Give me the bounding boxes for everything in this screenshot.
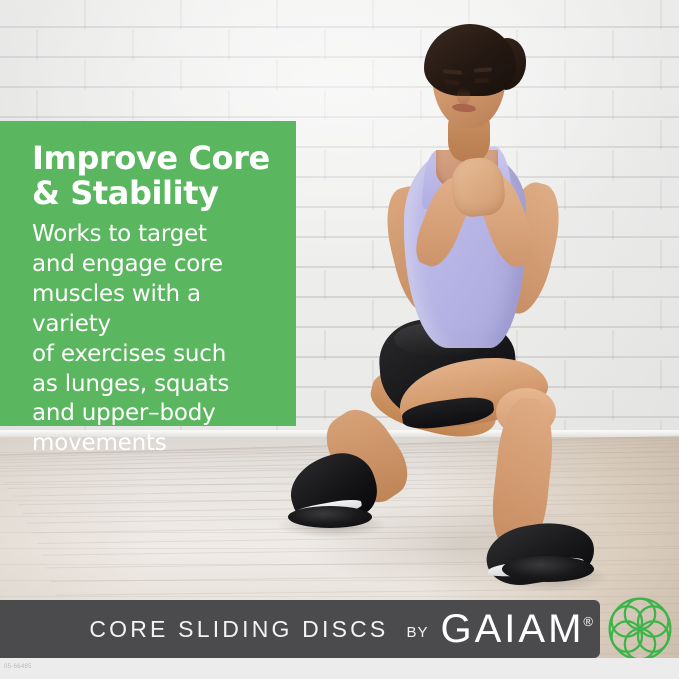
product-name-label: CORE SLIDING DISCS [89,616,388,643]
gaiam-flower-logo-icon [607,596,673,662]
by-label: BY [406,624,428,641]
sku-code: 05-66485 [4,664,32,670]
hair [424,24,516,96]
bottom-white-strip [0,658,679,679]
promo-panel: Improve Core & Stability Works to target… [0,121,296,426]
front-sliding-disc [502,556,594,582]
brand-banner: CORE SLIDING DISCS BY GAIAM® [0,598,679,660]
promo-heading-line-2: & Stability [32,174,219,212]
brand-wordmark: GAIAM® [441,607,595,652]
promo-body-text: Works to target and engage core muscles … [32,220,274,459]
registered-trademark-symbol: ® [583,614,593,629]
brand-name-text: GAIAM [441,607,585,651]
promo-heading: Improve Core & Stability [32,141,274,210]
nose [457,88,470,104]
eye-right [474,77,489,83]
rear-sliding-disc [288,506,372,528]
product-marketing-image: Improve Core & Stability Works to target… [0,0,679,679]
banner-content: CORE SLIDING DISCS BY GAIAM® [0,600,600,658]
promo-heading-line-1: Improve Core [32,139,270,177]
